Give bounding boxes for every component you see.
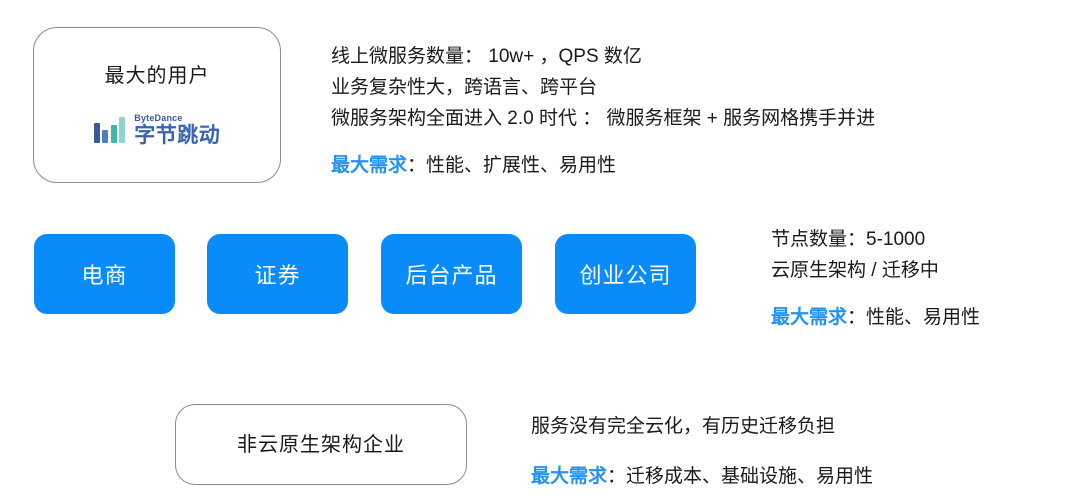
- bytedance-need-separator: ：: [407, 155, 426, 176]
- bytedance-description-line-2: 业务复杂性大，跨语言、跨平台: [331, 72, 875, 103]
- bytedance-bars-icon: [94, 117, 126, 143]
- segment-button-backend-products-label: 后台产品: [405, 258, 497, 290]
- legacy-need-value: 迁移成本、基础设施、易用性: [626, 466, 873, 487]
- bytedance-description-line-1: 线上微服务数量： 10w+ ，QPS 数亿: [331, 41, 875, 72]
- cloud-native-need-value: 性能、易用性: [866, 307, 980, 328]
- bytedance-description-line-3: 微服务架构全面进入 2.0 时代 ： 微服务框架 + 服务网格携手并进: [331, 103, 875, 134]
- cloud-native-need-line: 最大需求：性能、易用性: [771, 302, 980, 333]
- cloud-native-description-line-2: 云原生架构 / 迁移中: [771, 255, 980, 286]
- legacy-description-line-1: 服务没有完全云化，有历史迁移负担: [531, 411, 873, 442]
- cloud-native-need-separator: ：: [847, 307, 866, 328]
- segment-button-startups-label: 创业公司: [579, 258, 671, 290]
- legacy-architecture-card-title: 非云原生架构企业: [237, 433, 405, 457]
- legacy-description: 服务没有完全云化，有历史迁移负担 最大需求：迁移成本、基础设施、易用性: [531, 411, 873, 492]
- legacy-need-line: 最大需求：迁移成本、基础设施、易用性: [531, 461, 873, 492]
- bytedance-need-value: 性能、扩展性、易用性: [426, 155, 616, 176]
- segment-button-securities[interactable]: 证券: [207, 234, 348, 314]
- bytedance-logo: ByteDance 字节跳动: [94, 114, 221, 146]
- bytedance-description: 线上微服务数量： 10w+ ，QPS 数亿 业务复杂性大，跨语言、跨平台 微服务…: [331, 41, 875, 181]
- legacy-need-label: 最大需求: [531, 466, 607, 487]
- legacy-need-separator: ：: [607, 466, 626, 487]
- bytedance-logo-chinese: 字节跳动: [134, 125, 220, 146]
- bytedance-need-label: 最大需求: [331, 155, 407, 176]
- cloud-native-description: 节点数量：5-1000 云原生架构 / 迁移中 最大需求：性能、易用性: [771, 224, 980, 333]
- segment-button-startups[interactable]: 创业公司: [555, 234, 696, 314]
- bytedance-need-line: 最大需求：性能、扩展性、易用性: [331, 150, 875, 181]
- segment-button-backend-products[interactable]: 后台产品: [381, 234, 522, 314]
- segment-button-ecommerce[interactable]: 电商: [34, 234, 175, 314]
- cloud-native-need-label: 最大需求: [771, 307, 847, 328]
- legacy-architecture-card: 非云原生架构企业: [175, 404, 467, 485]
- cloud-native-description-line-1: 节点数量：5-1000: [771, 224, 980, 255]
- bytedance-logo-english: ByteDance: [134, 114, 182, 123]
- bytedance-logo-wordmark: ByteDance 字节跳动: [134, 114, 220, 146]
- slide-canvas: 最大的用户 ByteDance 字节跳动 线上微服务数量： 10w+ ，QPS …: [0, 0, 1080, 504]
- bytedance-card: 最大的用户 ByteDance 字节跳动: [33, 27, 281, 183]
- segment-button-securities-label: 证券: [254, 258, 300, 290]
- segment-button-ecommerce-label: 电商: [81, 258, 127, 290]
- bytedance-card-title: 最大的用户: [105, 64, 210, 88]
